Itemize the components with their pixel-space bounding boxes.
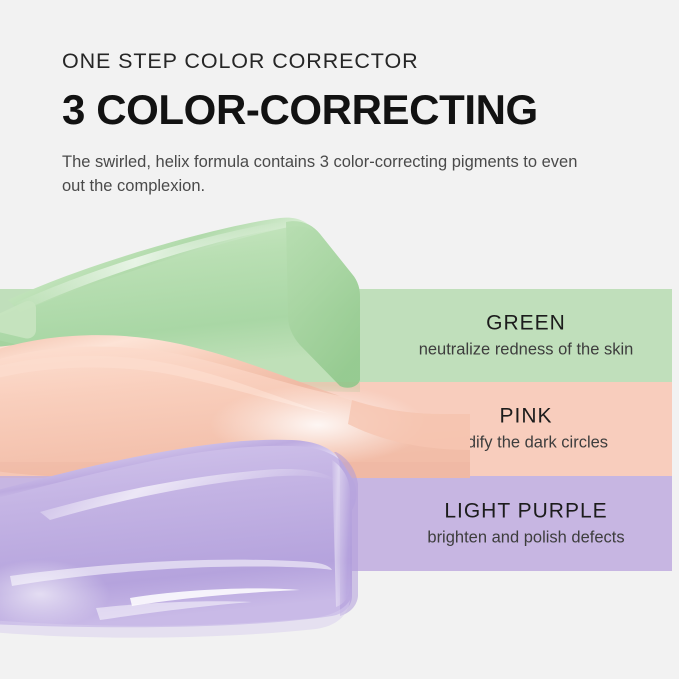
band-green-title: GREEN <box>380 310 672 336</box>
band-light-purple-title: LIGHT PURPLE <box>380 498 672 524</box>
band-light-purple: LIGHT PURPLE brighten and polish defects <box>0 476 672 571</box>
subcopy-text: The swirled, helix formula contains 3 co… <box>62 151 582 199</box>
band-light-purple-description: brighten and polish defects <box>380 527 672 548</box>
color-band-group: GREEN neutralize redness of the skin PIN… <box>0 289 672 571</box>
band-pink: PINK modify the dark circles <box>0 382 672 476</box>
band-pink-title: PINK <box>380 404 672 430</box>
page-title: 3 COLOR-CORRECTING <box>62 86 642 133</box>
product-infographic: ONE STEP COLOR CORRECTOR 3 COLOR-CORRECT… <box>0 0 679 679</box>
band-green-text: GREEN neutralize redness of the skin <box>380 310 672 361</box>
band-green-description: neutralize redness of the skin <box>380 339 672 360</box>
band-pink-description: modify the dark circles <box>380 433 672 454</box>
header-block: ONE STEP COLOR CORRECTOR 3 COLOR-CORRECT… <box>62 50 642 199</box>
band-light-purple-text: LIGHT PURPLE brighten and polish defects <box>380 498 672 549</box>
eyebrow-text: ONE STEP COLOR CORRECTOR <box>62 50 642 74</box>
band-green: GREEN neutralize redness of the skin <box>0 289 672 382</box>
band-pink-text: PINK modify the dark circles <box>380 404 672 455</box>
